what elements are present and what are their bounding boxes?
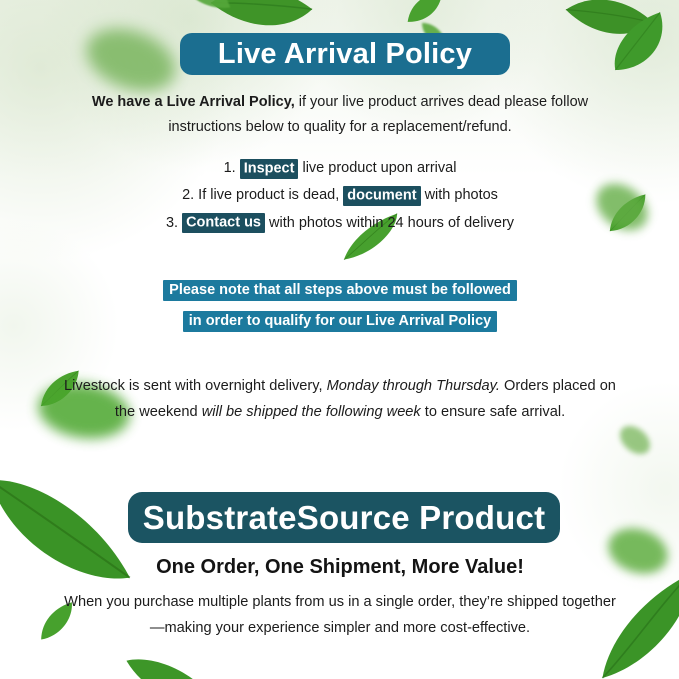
step-highlight: document (343, 186, 420, 206)
livestock-italic1: Monday through Thursday. (327, 378, 500, 394)
content-layer: Live Arrival Policy We have a Live Arriv… (0, 0, 679, 679)
policy-steps-list: 1. Inspect live product upon arrival 2. … (40, 160, 640, 242)
step-text-before: If live product is dead, (194, 187, 343, 203)
list-item: 2. If live product is dead, document wit… (40, 187, 640, 204)
substratesource-product-banner: SubstrateSource Product (128, 492, 560, 543)
note-line: in order to qualify for our Live Arrival… (40, 305, 640, 336)
intro-paragraph: We have a Live Arrival Policy, if your l… (62, 90, 618, 140)
intro-bold-lead: We have a Live Arrival Policy, (92, 94, 295, 110)
step-number: 3. (166, 215, 178, 231)
list-item: 1. Inspect live product upon arrival (40, 160, 640, 177)
step-text-after: with photos within 24 hours of delivery (265, 215, 514, 231)
step-highlight: Contact us (182, 213, 265, 233)
promo-graphic: Live Arrival Policy We have a Live Arriv… (0, 0, 679, 679)
note-line-text: Please note that all steps above must be… (163, 280, 517, 301)
value-subheading: One Order, One Shipment, More Value! (40, 556, 640, 579)
livestock-shipping-paragraph: Livestock is sent with overnight deliver… (60, 374, 620, 426)
step-text-after: live product upon arrival (298, 160, 456, 176)
livestock-part1: Livestock is sent with overnight deliver… (64, 378, 327, 394)
closing-paragraph: When you purchase multiple plants from u… (62, 590, 618, 642)
note-line-text: in order to qualify for our Live Arrival… (183, 311, 497, 332)
livestock-part3: to ensure safe arrival. (421, 404, 565, 420)
step-number: 1. (224, 160, 236, 176)
note-line: Please note that all steps above must be… (40, 274, 640, 305)
list-item: 3. Contact us with photos within 24 hour… (40, 215, 640, 232)
live-arrival-policy-banner: Live Arrival Policy (180, 33, 510, 75)
step-number: 2. (182, 187, 194, 203)
livestock-italic2: will be shipped the following week (202, 404, 421, 420)
policy-note: Please note that all steps above must be… (40, 274, 640, 336)
step-text-after: with photos (421, 187, 498, 203)
step-highlight: Inspect (240, 159, 299, 179)
